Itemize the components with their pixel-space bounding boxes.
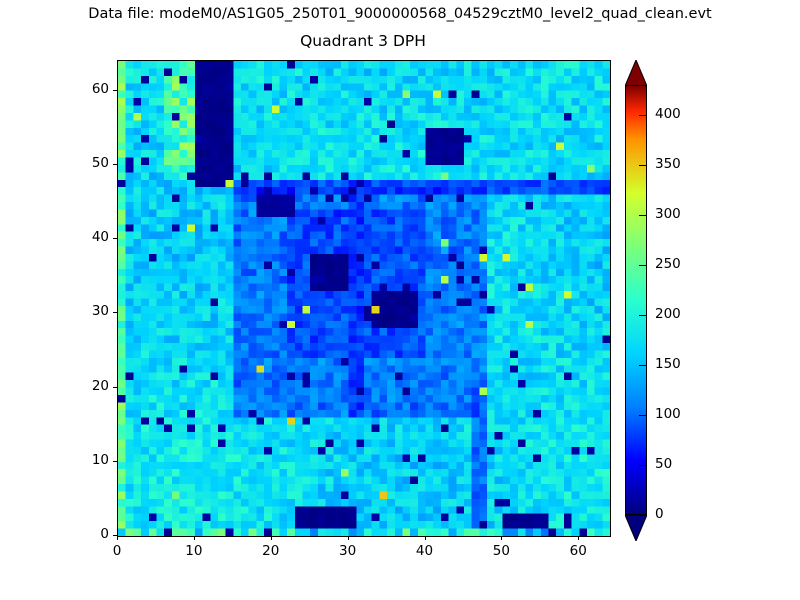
colorbar-tickmark: [639, 265, 647, 266]
x-tick-label: 10: [174, 543, 214, 559]
y-tickmark: [113, 90, 117, 91]
colorbar-tick-label: 250: [655, 256, 681, 272]
y-tick-label: 50: [65, 155, 109, 171]
y-tick-label: 30: [65, 303, 109, 319]
y-tickmark: [113, 164, 117, 165]
figure-canvas: Data file: modeM0/AS1G05_250T01_90000005…: [0, 0, 800, 600]
colorbar-tick-label: 350: [655, 156, 681, 172]
y-tick-label: 0: [65, 526, 109, 542]
x-tick-label: 60: [558, 543, 598, 559]
colorbar-tickmark: [639, 365, 647, 366]
y-tickmark: [113, 461, 117, 462]
colorbar-tickmark: [639, 415, 647, 416]
colorbar-tickmark: [639, 165, 647, 166]
colorbar-tickmark: [639, 115, 647, 116]
data-file-suptitle: Data file: modeM0/AS1G05_250T01_90000005…: [0, 6, 800, 22]
x-tick-label: 50: [481, 543, 521, 559]
detector-heatmap-image: [118, 61, 610, 536]
colorbar-tick-label: 100: [655, 406, 681, 422]
x-tickmark: [501, 536, 502, 540]
x-tick-label: 30: [328, 543, 368, 559]
colorbar-tick-label: 0: [655, 506, 664, 522]
colorbar-tickmark: [639, 215, 647, 216]
x-tickmark: [348, 536, 349, 540]
y-tickmark: [113, 535, 117, 536]
heatmap-axes: [117, 60, 611, 537]
colorbar-tickmark: [639, 515, 647, 516]
y-tickmark: [113, 387, 117, 388]
colorbar: 050100150200250300350400: [625, 60, 649, 540]
x-tick-label: 20: [251, 543, 291, 559]
x-tick-label: 40: [405, 543, 445, 559]
colorbar-extend-max-arrow: [625, 60, 647, 86]
x-tickmark: [194, 536, 195, 540]
colorbar-extend-min-arrow: [625, 515, 647, 541]
x-tickmark: [271, 536, 272, 540]
colorbar-tick-label: 300: [655, 206, 681, 222]
y-tick-label: 10: [65, 452, 109, 468]
colorbar-tick-label: 50: [655, 456, 672, 472]
y-tickmark: [113, 238, 117, 239]
colorbar-tick-label: 200: [655, 306, 681, 322]
colorbar-tick-label: 400: [655, 106, 681, 122]
x-tickmark: [117, 536, 118, 540]
y-tick-label: 40: [65, 229, 109, 245]
colorbar-tickmark: [639, 315, 647, 316]
x-tick-label: 0: [97, 543, 137, 559]
y-tick-label: 20: [65, 378, 109, 394]
page-title: Quadrant 3 DPH: [117, 32, 609, 50]
colorbar-tick-label: 150: [655, 356, 681, 372]
y-tick-label: 60: [65, 81, 109, 97]
x-tickmark: [578, 536, 579, 540]
colorbar-gradient: [625, 85, 647, 515]
y-tickmark: [113, 312, 117, 313]
x-tickmark: [425, 536, 426, 540]
colorbar-tickmark: [639, 465, 647, 466]
